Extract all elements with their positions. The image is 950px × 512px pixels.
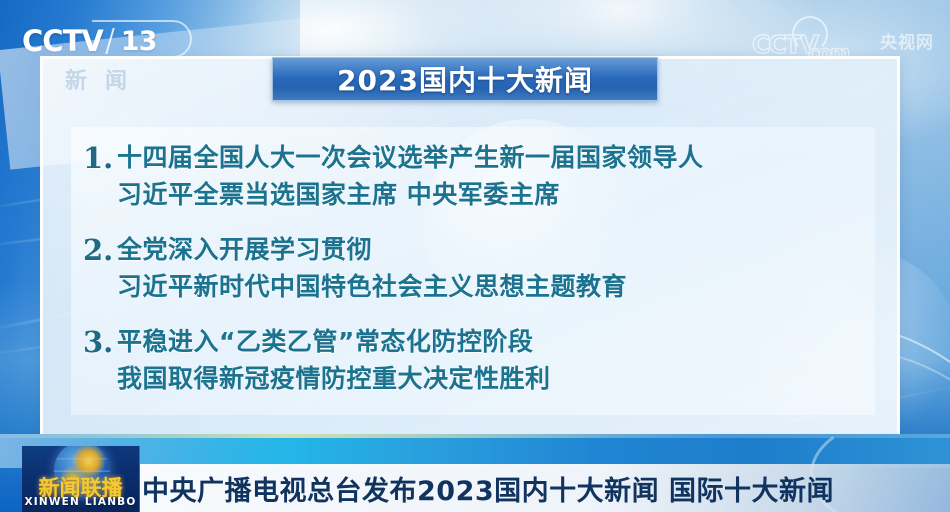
- xinwen-lianbo-logo: 新闻联播 XINWEN LIANBO: [22, 446, 140, 512]
- news-item-line: 我国取得新冠疫情防控重大决定性胜利: [117, 360, 873, 397]
- news-item: 1. 十四届全国人大一次会议选举产生新一届国家领导人 习近平全票当选国家主席 中…: [83, 139, 873, 213]
- news-item-lines: 十四届全国人大一次会议选举产生新一届国家领导人 习近平全票当选国家主席 中央军委…: [117, 139, 873, 213]
- lower-third-bar: 中央广播电视总台发布2023国内十大新闻 国际十大新闻 新闻联播 XINWEN …: [0, 434, 950, 512]
- news-list: 1. 十四届全国人大一次会议选举产生新一届国家领导人 习近平全票当选国家主席 中…: [83, 139, 873, 415]
- news-item-number: 1.: [83, 139, 117, 177]
- news-item: 2. 全党深入开展学习贯彻 习近平新时代中国特色社会主义思想主题教育: [83, 231, 873, 305]
- program-name-pinyin: XINWEN LIANBO: [22, 496, 139, 508]
- broadcast-screen: CCTV 13 CCTV com 央视网 新闻 1. 十四届全国人大一次会议选举…: [0, 0, 950, 512]
- title-banner: 2023国内十大新闻: [272, 57, 658, 101]
- cctv-com-watermark: CCTV com 央视网: [752, 14, 934, 60]
- lower-third-color-strip: [0, 434, 950, 468]
- watermark-chinese-text: 央视网: [880, 28, 934, 53]
- content-panel: 新闻 1. 十四届全国人大一次会议选举产生新一届国家领导人 习近平全票当选国家主…: [40, 56, 900, 438]
- watermark-latin-group: CCTV com: [752, 14, 874, 60]
- panel-watermark-text: 新闻: [65, 63, 145, 95]
- news-item: 3. 平稳进入“乙类乙管”常态化防控阶段 我国取得新冠疫情防控重大决定性胜利: [83, 323, 873, 397]
- news-item-lines: 平稳进入“乙类乙管”常态化防控阶段 我国取得新冠疫情防控重大决定性胜利: [117, 323, 873, 397]
- news-item-line: 习近平全票当选国家主席 中央军委主席: [117, 176, 873, 213]
- news-item-number: 2.: [83, 231, 117, 269]
- news-item-line: 十四届全国人大一次会议选举产生新一届国家领导人: [117, 139, 873, 176]
- news-item-lines: 全党深入开展学习贯彻 习近平新时代中国特色社会主义思想主题教育: [117, 231, 873, 305]
- headline-text: 中央广播电视总台发布2023国内十大新闻 国际十大新闻: [130, 469, 834, 508]
- page-title: 2023国内十大新闻: [337, 59, 593, 99]
- news-item-line: 习近平新时代中国特色社会主义思想主题教育: [117, 268, 873, 305]
- news-item-line: 全党深入开展学习贯彻: [117, 231, 873, 268]
- headline-band: 中央广播电视总台发布2023国内十大新闻 国际十大新闻: [130, 464, 950, 512]
- news-item-line: 平稳进入“乙类乙管”常态化防控阶段: [117, 323, 873, 360]
- news-item-number: 3.: [83, 323, 117, 361]
